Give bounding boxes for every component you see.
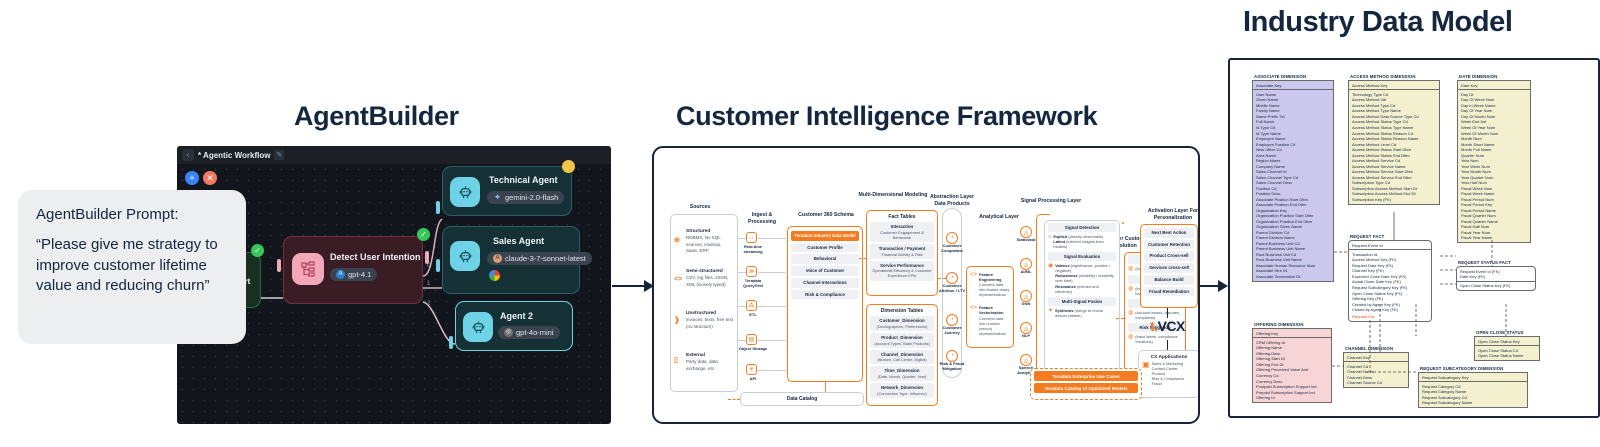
- signal-item: ✦ Synthesis (merge to reveal deeper patt…: [1045, 307, 1119, 319]
- spark-icon: ✦: [1048, 308, 1053, 318]
- stream-icon: →: [746, 232, 757, 243]
- column-heading-signal: Signal Processing Layer: [1018, 198, 1084, 205]
- source-title: Structured: [686, 229, 710, 234]
- dimension-tables-group: Dimension Tables Customer_Dimension(Demo…: [866, 304, 938, 406]
- column-heading-analytical: Analytical Layer: [976, 214, 1022, 221]
- orange-bar-item: Teradata Enterprise Use Cases: [1034, 371, 1138, 381]
- status-dot-warning: [562, 160, 575, 173]
- column-heading-ingest: Ingest & Processing: [740, 212, 784, 225]
- column-heading-schema: Customer 360 Schema: [790, 212, 862, 219]
- page-title-customer-intelligence-framework: Customer Intelligence Framework: [676, 101, 1097, 132]
- schema-item: Behavioral: [791, 254, 859, 264]
- external-icon: ▯: [674, 356, 678, 364]
- activation-title: Next Best Action: [1144, 228, 1194, 238]
- workflow-node-detect-user-intention[interactable]: Detect User Intention A gpt-4.1: [283, 236, 423, 304]
- node-label: Agent 2: [500, 311, 533, 321]
- code-icon: <>: [970, 305, 977, 335]
- edit-pencil-icon[interactable]: ✎: [274, 150, 284, 160]
- dimension-table-item: Channel_Dimension(Branch, Call Center, D…: [870, 350, 934, 365]
- column-heading-abstraction: Abstraction Layer Data Products: [926, 194, 978, 207]
- edge-label-1: 1: [427, 281, 430, 287]
- workflow-node-technical-agent[interactable]: Technical Agent ✦ gemini-2.0-flash: [442, 166, 572, 216]
- azure-logo-icon: A: [336, 270, 345, 279]
- fact-table-item: Service PerformanceOperational Efficienc…: [870, 261, 934, 281]
- data-product-label: Customer Complaints: [937, 244, 967, 254]
- data-product-label: Risk & Fraud Mitigation: [937, 362, 967, 372]
- etl-icon: ⁂: [746, 300, 757, 311]
- dimension-table-item: Network_Dimension(Connection Type, Influ…: [870, 383, 934, 398]
- schema-item: Customer Profile: [791, 243, 859, 253]
- dimension-table-item: Product_Dimension(Account Types, Bank Pr…: [870, 333, 934, 348]
- page-title-agentbuilder: AgentBuilder: [294, 101, 459, 132]
- model-chip[interactable]: A gpt-4.1: [330, 268, 377, 281]
- database-icon: ⊕: [674, 236, 680, 244]
- source-desc: Party data, data exchange, etc.: [686, 359, 718, 370]
- signal-section-band: Multi-Signal Fusion: [1048, 297, 1116, 306]
- customer-360-schema-group: Teradata Industry Data Model Customer Pr…: [787, 226, 863, 382]
- agent-robot-icon: [463, 312, 493, 342]
- app-icon: ▣: [1142, 361, 1150, 386]
- bulb-icon: ◍: [1128, 310, 1133, 320]
- fact-table-item: Transaction / PaymentFinancial Activity …: [870, 244, 934, 259]
- column-heading-sources: Sources: [668, 204, 732, 211]
- schema-highlight: Teradata Industry Data Model: [791, 231, 859, 241]
- google-logo-icon: [489, 270, 500, 281]
- bulb-icon: ◍: [1128, 286, 1133, 296]
- orange-bars-group: Teradata Enterprise Use Cases Teradata C…: [1030, 368, 1142, 400]
- source-desc: invoices, texts, free text (no structure…: [686, 317, 733, 328]
- edge-label-0: 0: [427, 263, 430, 269]
- prompt-callout: AgentBuilder Prompt: “Please give me str…: [18, 190, 246, 344]
- industry-data-model-diagram: ASSOCIATE DIMENSION Associate Key User N…: [1228, 58, 1600, 418]
- search-icon: ⌕: [1048, 234, 1051, 249]
- model-name: claude-3-7-sonnet-latest: [505, 254, 586, 263]
- signal-section-band: Signal Evaluation: [1048, 252, 1116, 261]
- model-chip[interactable]: A claude-3-7-sonnet-latest: [487, 252, 592, 265]
- vcx-mark: t.: [1150, 318, 1158, 334]
- vcx-text: VCX: [1158, 318, 1185, 334]
- document-icon: ❱: [674, 316, 680, 324]
- querygrid-icon: ≫: [746, 266, 757, 277]
- activation-item: Services cross-sell: [1144, 263, 1194, 273]
- orange-bar-item: Teradata Catalog of Optimized Models: [1034, 383, 1138, 393]
- prompt-heading: AgentBuilder Prompt:: [36, 206, 228, 223]
- edge-label-2: 2: [427, 301, 430, 307]
- model-name: gemini-2.0-flash: [505, 193, 558, 202]
- dimension-table-item: Customer_Dimension(Demographics, Prefere…: [870, 316, 934, 331]
- prompt-body: “Please give me strategy to improve cust…: [36, 235, 228, 297]
- feature-engineering-group: <> Feature EngineeringConverts data into…: [966, 266, 1014, 348]
- bulb-icon: ◍: [1128, 266, 1133, 272]
- column-heading-modeling: Multi-Dimensional Modeling: [854, 192, 932, 199]
- model-name: gpt-4o-mini: [516, 328, 554, 337]
- fact-tables-title: Fact Tables: [867, 214, 937, 220]
- node-label: Detect User Intention: [330, 252, 421, 262]
- cx-applications-box: CX Applications ▣ Sales & Marketing Cont…: [1138, 350, 1200, 398]
- activation-item: Product Cross-sell: [1144, 251, 1194, 261]
- ingest-label: API: [738, 377, 768, 382]
- entity-relationship-lines: [1230, 60, 1600, 418]
- anthropic-logo-icon: A: [493, 254, 502, 263]
- source-desc: RDBMS, No SQL sources, Hadoop, SaaS, ERP: [686, 235, 721, 252]
- node-input-port[interactable]: [277, 259, 281, 272]
- ingest-label: Teradata QueryGrid: [738, 279, 768, 289]
- workflow-node-sales-agent[interactable]: Sales Agent A claude-3-7-sonnet-latest: [442, 226, 580, 294]
- ingest-label: ETL: [738, 313, 768, 318]
- cx-applications-items: Sales & Marketing Contact Center Product…: [1152, 361, 1185, 386]
- status-check-icon: ✓: [251, 244, 264, 257]
- signal-item: ◉ Valence (significance, positive / nega…: [1045, 262, 1119, 294]
- activation-item: Balance Build: [1144, 275, 1194, 285]
- bulb-icon: ◍: [1128, 334, 1133, 344]
- openai-logo-icon: ◎: [504, 328, 513, 337]
- workflow-node-agent-2[interactable]: Agent 2 ◎ gpt-4o-mini: [455, 301, 573, 351]
- back-icon[interactable]: ‹: [182, 149, 194, 161]
- data-product-label: Customer Journey: [937, 326, 967, 336]
- code-icon: <>: [674, 276, 682, 283]
- dimension-tables-title: Dimension Tables: [867, 308, 937, 314]
- activation-layer-group: Next Best Action Customer Retention Prod…: [1140, 224, 1198, 308]
- gemini-logo-icon: ✦: [493, 193, 502, 202]
- schema-item: Risk & Compliance: [791, 290, 859, 300]
- vcx-logo: t.VCX: [1150, 318, 1185, 334]
- node-label: Sales Agent: [493, 236, 544, 246]
- activation-item: Customer Retention: [1144, 240, 1194, 250]
- data-catalog-box: Data Catalog: [740, 392, 864, 406]
- source-title: Unstructured: [686, 311, 716, 316]
- page-title-industry-data-model: Industry Data Model: [1243, 6, 1513, 39]
- ingest-label: Object Storage: [738, 347, 768, 352]
- screenshot-root: AgentBuilder Customer Intelligence Frame…: [0, 0, 1600, 447]
- dimension-table-item: Time_Dimension(Date, Month, Quarter, Yea…: [870, 366, 934, 381]
- intent-node-icon: [292, 253, 324, 285]
- signal-section-band: Signal Detection: [1048, 223, 1116, 232]
- arrow-right-icon: [612, 280, 654, 292]
- signal-item: ⌕ Explicit (directly observable) Latent …: [1045, 233, 1119, 250]
- canvas-topbar: ‹ * Agentic Workflow ✎: [177, 146, 611, 164]
- node-input-port[interactable]: [436, 259, 440, 272]
- fact-table-item: InteractionCustomer Engagement & Behavio…: [870, 222, 934, 242]
- workflow-title: * Agentic Workflow: [198, 151, 270, 160]
- node-label: Technical Agent: [489, 175, 558, 185]
- feature-block: <> Feature EngineeringConverts data into…: [967, 271, 1013, 298]
- feature-block: <> Feature VectorisationConverts data in…: [967, 304, 1013, 336]
- source-title: Semi-structured: [686, 269, 723, 274]
- storage-icon: ▤: [746, 334, 757, 345]
- model-chip[interactable]: ◎ gpt-4o-mini: [498, 326, 560, 339]
- status-check-icon: ✓: [417, 228, 430, 241]
- ingest-label: Real-time streaming: [738, 245, 768, 255]
- data-product-label: Customer Attrition / LTV: [937, 284, 967, 294]
- source-title: External: [686, 353, 705, 358]
- code-icon: <>: [970, 272, 977, 297]
- column-heading-activation: Activation Layer For Personalization: [1146, 208, 1200, 221]
- data-catalog-label: Data Catalog: [741, 393, 863, 405]
- customer-intelligence-framework-diagram: Sources Ingest & Processing Customer 360…: [652, 146, 1200, 424]
- schema-item: Voice of Customer: [791, 266, 859, 276]
- fact-tables-group: Fact Tables InteractionCustomer Engageme…: [866, 210, 938, 296]
- node-input-port[interactable]: [436, 201, 440, 214]
- source-desc: CSV, log files, JSON, XML (loosely typed…: [686, 275, 728, 286]
- api-icon: ✳: [746, 364, 757, 375]
- activation-item: Fraud Remediation: [1144, 287, 1194, 297]
- model-chip[interactable]: ✦ gemini-2.0-flash: [487, 191, 564, 204]
- agent-robot-icon: [450, 177, 480, 207]
- model-name: gpt-4.1: [348, 270, 371, 279]
- agent-robot-icon: [450, 241, 480, 271]
- node-input-port[interactable]: [449, 336, 453, 349]
- semantic-item: ◍(fraud alerts, compliance violations): [1125, 333, 1185, 345]
- schema-item: Channel Interactions: [791, 278, 859, 288]
- gauge-icon: ◉: [1048, 263, 1053, 293]
